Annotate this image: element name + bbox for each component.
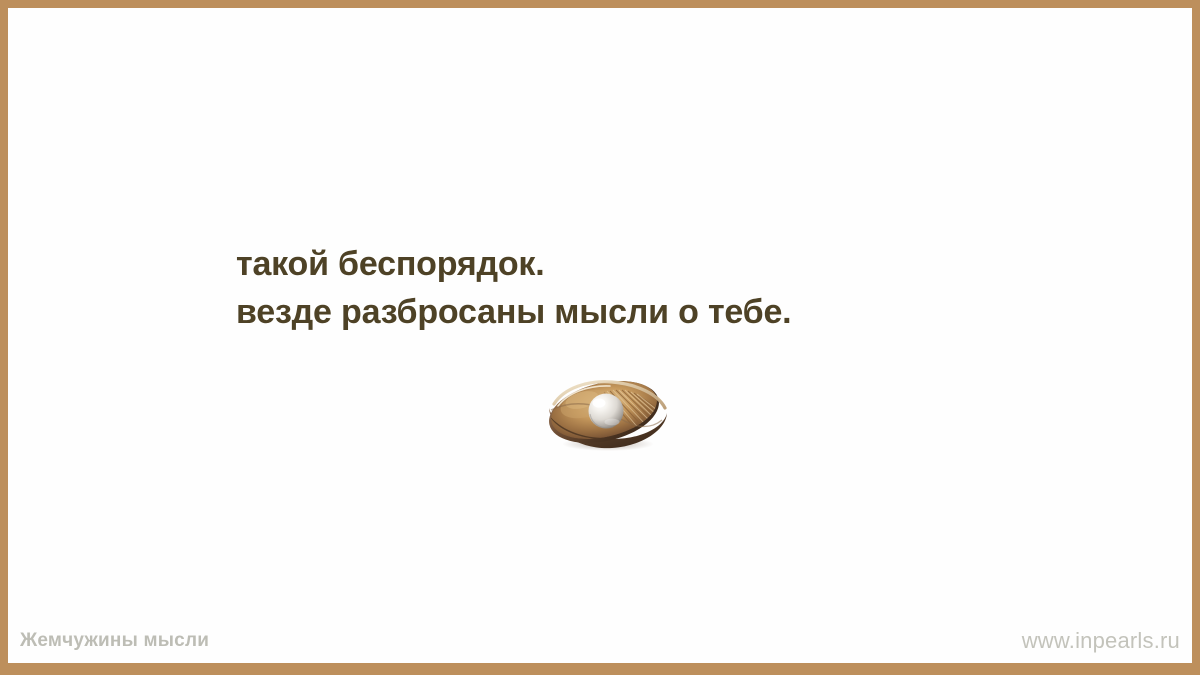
- quote-card-canvas: такой беспорядок. везде разбросаны мысли…: [8, 8, 1192, 663]
- quote-line-1: такой беспорядок.: [236, 240, 1176, 288]
- quote-text-block: такой беспорядок. везде разбросаны мысли…: [236, 240, 1176, 336]
- site-url-label[interactable]: www.inpearls.ru: [1022, 628, 1180, 654]
- oyster-shell-with-pearl-icon: [538, 370, 678, 454]
- quote-line-2: везде разбросаны мысли о тебе.: [236, 288, 1176, 336]
- site-brand-label: Жемчужины мысли: [20, 630, 209, 652]
- quote-card-frame: такой беспорядок. везде разбросаны мысли…: [0, 0, 1200, 675]
